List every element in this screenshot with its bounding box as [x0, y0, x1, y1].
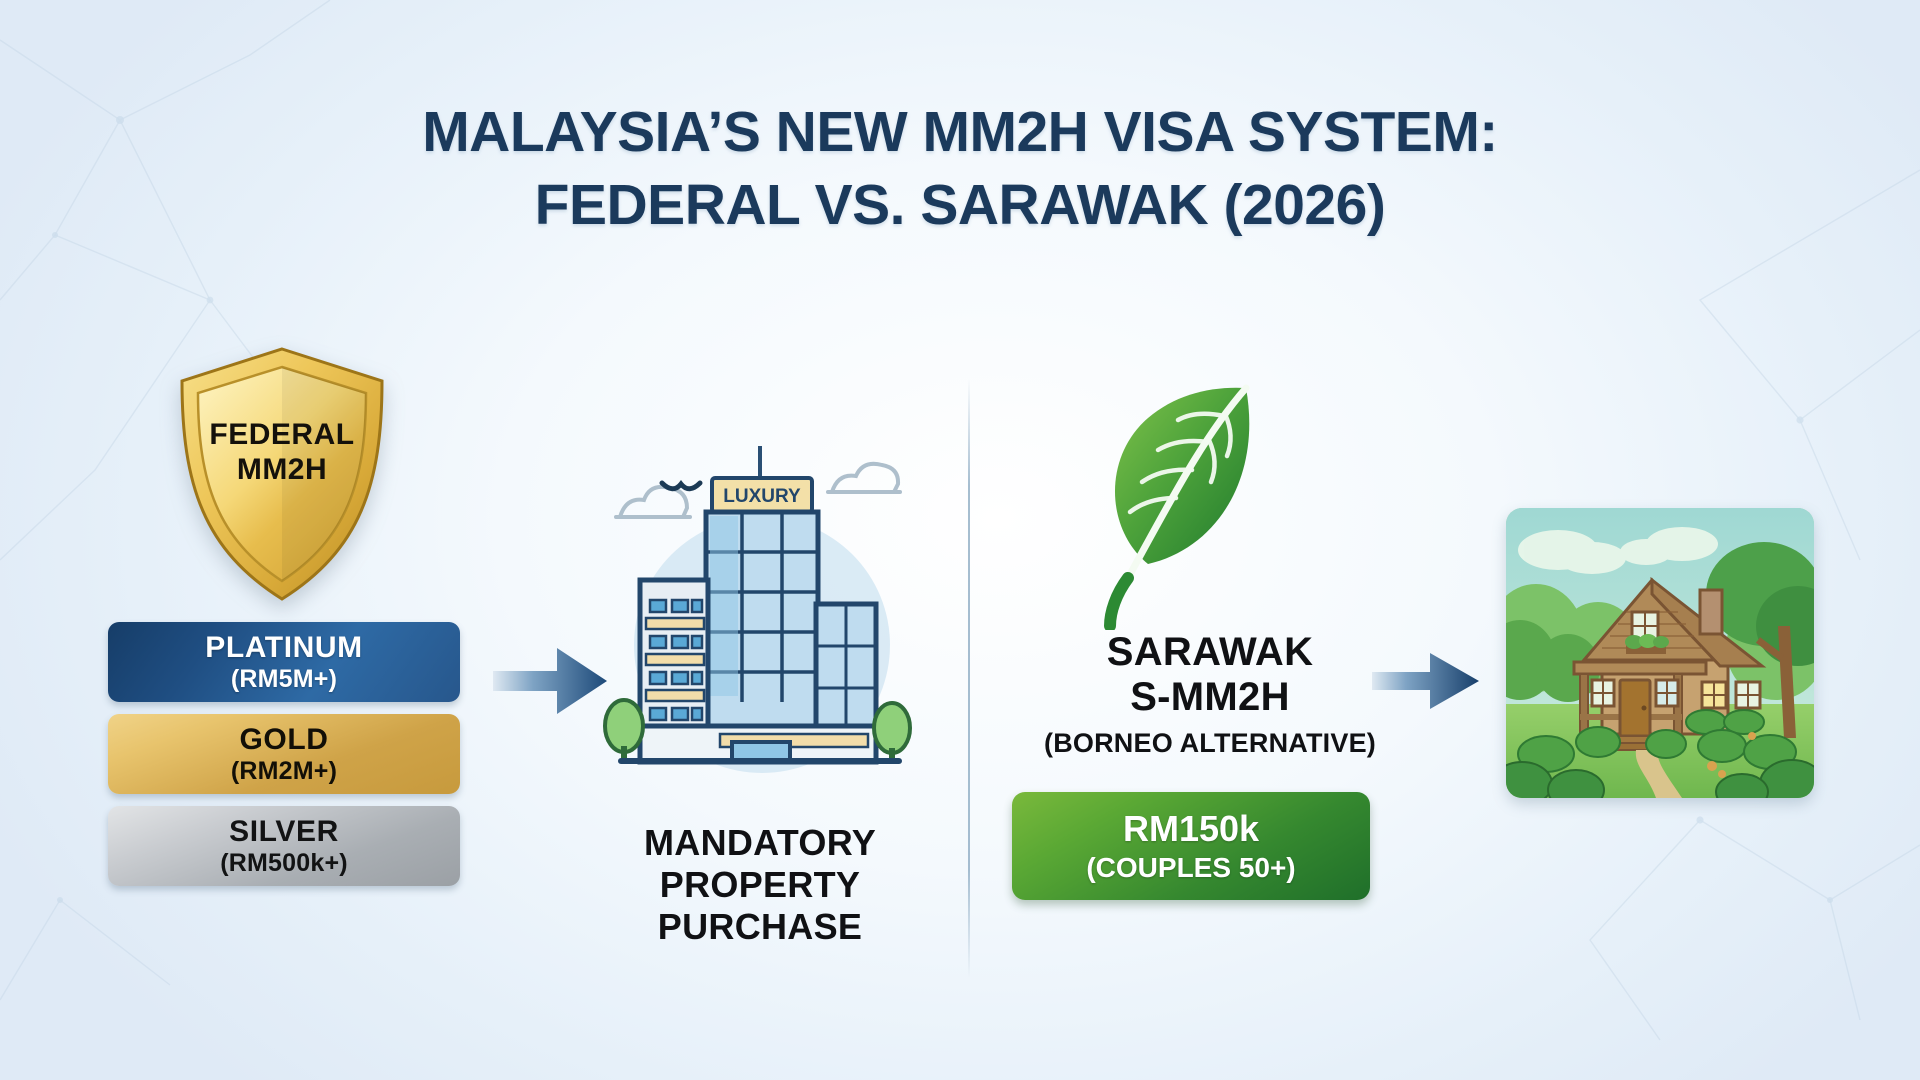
sarawak-cost-qualifier: (COUPLES 50+) [1086, 854, 1295, 882]
arrow-right-icon [1372, 650, 1480, 712]
tier-gold-amount: (RM2M+) [231, 759, 337, 784]
title-line-2: FEDERAL VS. SARAWAK (2026) [0, 169, 1920, 242]
tier-silver-name: SILVER [229, 817, 339, 847]
tier-gold-name: GOLD [239, 725, 328, 755]
page-title: MALAYSIA’S NEW MM2H VISA SYSTEM: FEDERAL… [0, 96, 1920, 242]
arrow-right-icon [493, 644, 608, 718]
center-caption: MANDATORY PROPERTY PURCHASE [580, 822, 940, 947]
center-caption-line-1: MANDATORY [580, 822, 940, 864]
tier-platinum[interactable]: PLATINUM (RM5M+) [108, 622, 460, 702]
sarawak-subtitle: (BORNEO ALTERNATIVE) [1000, 726, 1420, 761]
building-sign-text: LUXURY [723, 486, 801, 507]
tier-platinum-amount: (RM5M+) [231, 667, 337, 692]
sarawak-cost-badge[interactable]: RM150k (COUPLES 50+) [1012, 792, 1370, 900]
shield-icon [166, 345, 398, 605]
sarawak-heading-line-1: SARAWAK [1000, 630, 1420, 675]
leaf-icon [1084, 380, 1274, 630]
center-caption-line-2: PROPERTY [580, 864, 940, 906]
federal-tier-list: PLATINUM (RM5M+) GOLD (RM2M+) SILVER (RM… [108, 622, 460, 898]
title-line-1: MALAYSIA’S NEW MM2H VISA SYSTEM: [0, 96, 1920, 169]
sarawak-cost-amount: RM150k [1123, 811, 1259, 847]
sarawak-heading: SARAWAK S-MM2H (BORNEO ALTERNATIVE) [1000, 630, 1420, 761]
section-divider [968, 378, 970, 978]
cottage-house-illustration [1506, 508, 1814, 798]
tier-silver-amount: (RM500k+) [220, 851, 348, 876]
luxury-building-icon: LUXURY [600, 440, 920, 810]
center-caption-line-3: PURCHASE [580, 906, 940, 948]
tier-silver[interactable]: SILVER (RM500k+) [108, 806, 460, 886]
sarawak-heading-line-2: S-MM2H [1000, 675, 1420, 720]
tier-gold[interactable]: GOLD (RM2M+) [108, 714, 460, 794]
tier-platinum-name: PLATINUM [205, 633, 363, 663]
